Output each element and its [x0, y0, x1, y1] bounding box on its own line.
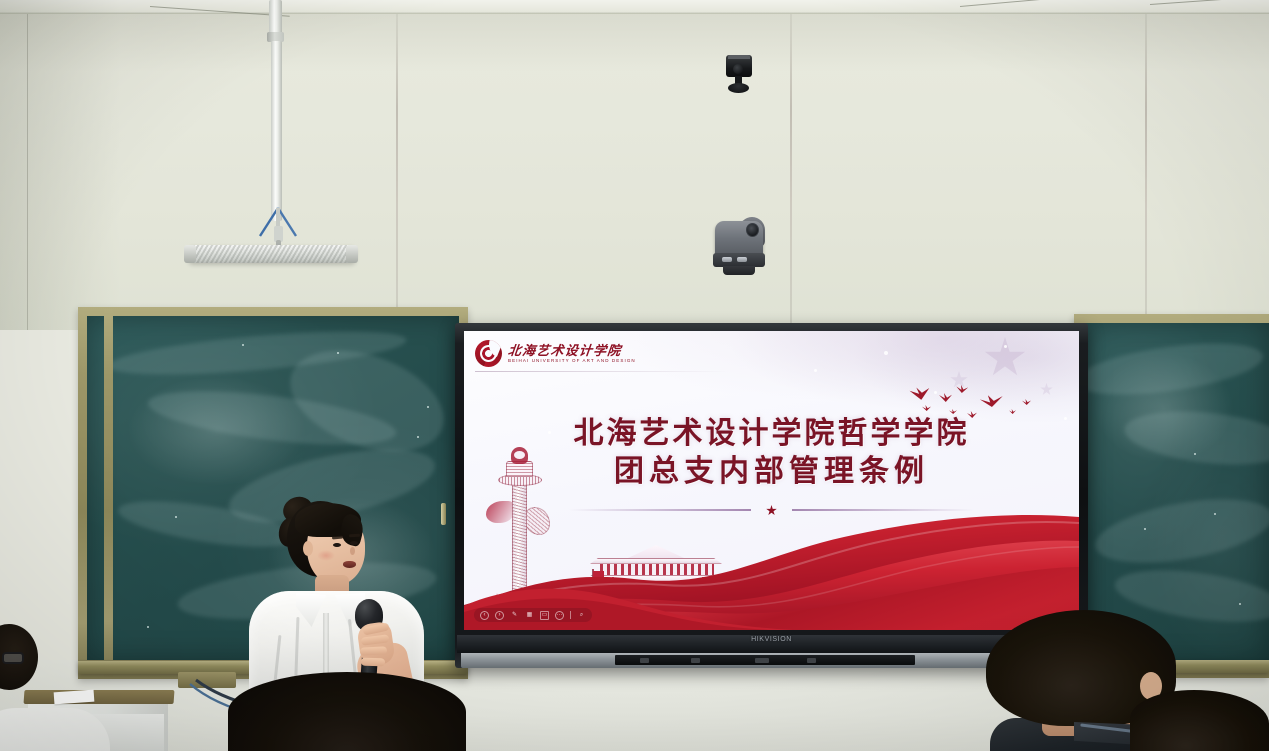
- slide-title-line-1: 北海艺术设计学院哲学学院: [464, 415, 1079, 453]
- pen-annotate-button[interactable]: ✎: [510, 611, 519, 620]
- toolbar-separator: [570, 611, 571, 619]
- lamp-pole-lower: [271, 41, 282, 221]
- lamp-bracket: [250, 206, 306, 248]
- shoulder: [0, 708, 110, 751]
- ear: [303, 541, 313, 556]
- wall-mounted-camera: [722, 55, 754, 101]
- subtitle-button[interactable]: ▭: [540, 611, 549, 620]
- ir-illuminator-icon: [737, 257, 747, 262]
- camera-lens-icon: [746, 223, 759, 237]
- mini-camera-top: [728, 55, 750, 59]
- spiral-logo-icon: [475, 340, 502, 367]
- university-logo-text: 北海艺术设计学院 BEIHAI UNIVERSITY OF ART AND DE…: [508, 344, 636, 364]
- head: [1130, 690, 1269, 751]
- head: [228, 672, 466, 751]
- camera-lens-icon: [733, 64, 743, 74]
- more-options-button[interactable]: ···: [555, 611, 564, 620]
- mouth: [343, 561, 356, 568]
- ptz-camera-foot: [723, 266, 755, 275]
- wall-panel-seam: [1145, 14, 1147, 330]
- slide-title: 北海艺术设计学院哲学学院 团总支内部管理条例: [464, 415, 1079, 491]
- classroom-scene: 北海艺术设计学院 BEIHAI UNIVERSITY OF ART AND DE…: [0, 0, 1269, 751]
- wall-panel-seam: [27, 14, 28, 330]
- presentation-slide[interactable]: 北海艺术设计学院 BEIHAI UNIVERSITY OF ART AND DE…: [464, 331, 1079, 630]
- wall-panel-seam: [396, 14, 398, 330]
- ir-illuminator-icon: [722, 257, 732, 262]
- lamp-pole-upper: [269, 0, 282, 36]
- finger: [361, 658, 385, 667]
- display-port[interactable]: [755, 658, 769, 663]
- finger: [360, 646, 387, 655]
- presenting-student: [243, 495, 433, 695]
- university-logo: 北海艺术设计学院 BEIHAI UNIVERSITY OF ART AND DE…: [475, 340, 636, 367]
- blackboard-latch[interactable]: [441, 503, 446, 525]
- wall-shading: [0, 12, 1269, 72]
- slide-title-line-2: 团总支内部管理条例: [464, 453, 1079, 491]
- university-name-en: BEIHAI UNIVERSITY OF ART AND DESIGN: [508, 359, 636, 364]
- display-port[interactable]: [807, 658, 816, 663]
- previous-slide-button[interactable]: ‹: [480, 611, 489, 620]
- wall-panel-seam: [790, 14, 792, 330]
- eyeglasses-icon: [2, 652, 24, 664]
- slide-grid-button[interactable]: ▦: [525, 611, 534, 620]
- logo-underline: [475, 371, 730, 372]
- display-screen[interactable]: 北海艺术设计学院 BEIHAI UNIVERSITY OF ART AND DE…: [464, 331, 1079, 630]
- lamp-cap-right: [346, 245, 358, 263]
- lamp-tube: [188, 245, 356, 263]
- nose: [350, 547, 355, 555]
- audience-member-far-right: [1130, 690, 1269, 751]
- zoom-button[interactable]: ⌕: [577, 611, 586, 620]
- audience-member-front-left: [228, 672, 466, 751]
- eye: [350, 541, 358, 545]
- display-port[interactable]: [691, 658, 700, 663]
- lamp-cap-left: [184, 245, 196, 263]
- university-name-cn: 北海艺术设计学院: [507, 344, 636, 357]
- next-slide-button[interactable]: ›: [495, 611, 504, 620]
- cheek: [317, 550, 335, 561]
- blackboard-slider-rail[interactable]: [104, 309, 113, 677]
- audience-member-left-edge: [0, 624, 95, 751]
- ptz-camera: [713, 213, 769, 275]
- display-port[interactable]: [640, 658, 649, 663]
- ppt-presentation-toolbar[interactable]: ‹ › ✎ ▦ ▭ ··· ⌕: [474, 608, 592, 622]
- mini-camera-mount: [728, 83, 749, 93]
- eye: [333, 543, 341, 547]
